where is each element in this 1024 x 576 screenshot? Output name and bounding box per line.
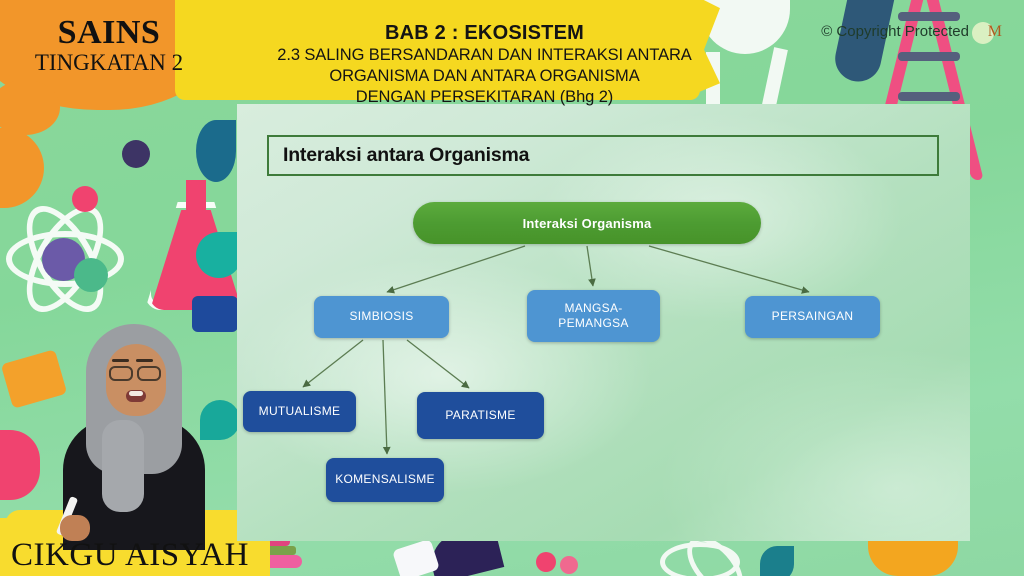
slide-title: Interaksi antara Organisma [283,144,529,167]
slide-title-box: Interaksi antara Organisma [267,135,939,176]
presenter-name: CIKGU AISYAH [0,537,260,574]
diagram-node-komensalisme[interactable]: KOMENSALISME [326,458,444,502]
brand-logo: SAINS TINGKATAN 2 [14,16,204,76]
copyright-notice: © Copyright Protected [821,23,969,40]
diagram-node-mutualisme-label: MUTUALISME [259,404,341,419]
diagram-node-persaingan-label: PERSAINGAN [772,309,854,324]
watermark-letter: M [988,23,1002,41]
watermark-logo: M [972,18,1002,48]
shape-decoration [196,120,236,182]
dot-decoration [72,186,98,212]
chapter-title: BAB 2 : EKOSISTEM [212,22,757,45]
shape-decoration [0,430,40,500]
diagram-node-simbiosis-label: SIMBIOSIS [349,309,413,324]
leaf-decoration [760,546,794,576]
dot-decoration [74,258,108,292]
shape-decoration [536,552,556,572]
diagram-node-persaingan[interactable]: PERSAINGAN [745,296,880,338]
presenter-video [58,300,208,550]
diagram-node-mutualisme[interactable]: MUTUALISME [243,391,356,432]
orange-brand-blob [0,80,60,135]
diagram-node-mangsa-pemangsa[interactable]: MANGSA- PEMANGSA [527,290,660,342]
shape-decoration [392,539,440,576]
shape-decoration [122,140,150,168]
shape-decoration [0,128,44,208]
lesson-header: BAB 2 : EKOSISTEM 2.3 SALING BERSANDARAN… [212,22,757,108]
presenter-face [106,344,166,416]
shape-decoration [560,556,578,574]
diagram-node-paratisme[interactable]: PARATISME [417,392,544,439]
presentation-slide: Interaksi antara Organisma Interaksi Org… [237,104,970,541]
diagram-node-komensalisme-label: KOMENSALISME [335,472,435,487]
diagram-node-paratisme-label: PARATISME [445,408,515,423]
topic-line-3: DENGAN PERSEKITARAN (Bhg 2) [212,87,757,108]
diagram-node-mangsa-pemangsa-label: MANGSA- PEMANGSA [558,301,628,332]
diagram-node-root-label: Interaksi Organisma [523,216,652,231]
diagram-node-root[interactable]: Interaksi Organisma [413,202,761,244]
shape-decoration [196,232,242,278]
brand-subject: SAINS [14,16,204,50]
topic-line-2: ORGANISMA DAN ANTARA ORGANISMA [212,66,757,87]
diagram-node-simbiosis[interactable]: SIMBIOSIS [314,296,449,338]
presenter-hijab-drape [102,420,144,512]
shape-decoration [762,47,788,107]
brand-level: TINGKATAN 2 [14,50,204,76]
topic-line-1: 2.3 SALING BERSANDARAN DAN INTERAKSI ANT… [212,45,757,66]
